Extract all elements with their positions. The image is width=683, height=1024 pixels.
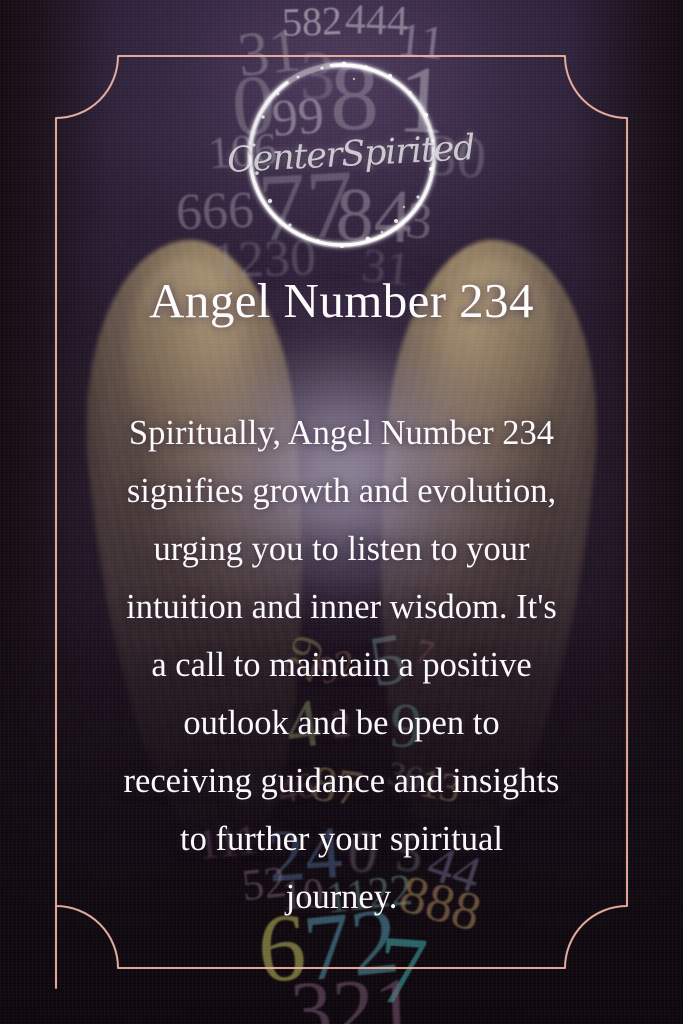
pin-content: Angel Number 234 Spiritually, Angel Numb… [0, 0, 683, 1024]
page-title: Angel Number 234 [0, 272, 683, 329]
pin-body-text: Spiritually, Angel Number 234signifies g… [68, 404, 616, 926]
pin-body-line: to further your spiritual [68, 810, 616, 868]
pin-body-line: journey. [68, 868, 616, 926]
pin-body-line: receiving guidance and insights [68, 752, 616, 810]
pin-body-line: intuition and inner wisdom. It's [68, 578, 616, 636]
pin-body-line: urging you to listen to your [68, 520, 616, 578]
pin-body-line: signifies growth and evolution, [68, 462, 616, 520]
pin-body-line: Spiritually, Angel Number 234 [68, 404, 616, 462]
pin-body-line: outlook and be open to [68, 694, 616, 752]
pin-canvas: 58244431113810991063077846663123031 2992… [0, 0, 683, 1024]
pin-body-line: a call to maintain a positive [68, 636, 616, 694]
